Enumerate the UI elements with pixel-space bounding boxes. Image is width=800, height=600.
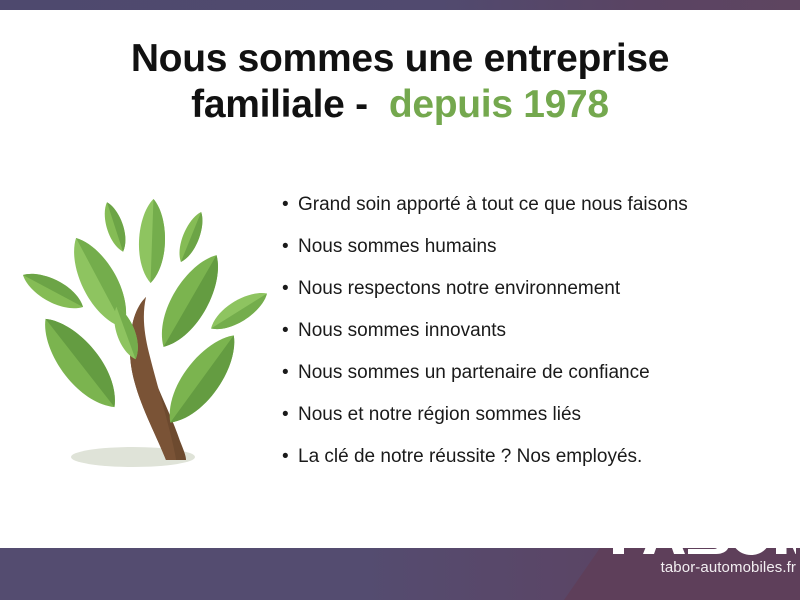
bullet-marker-icon: • (282, 360, 298, 386)
title-line-1: Nous sommes une entreprise (0, 36, 800, 82)
leaf-7 (205, 285, 272, 338)
list-item-label: Grand soin apporté à tout ce que nous fa… (298, 192, 688, 218)
list-item: • La clé de notre réussite ? Nos employé… (282, 444, 782, 486)
list-item: • Nous sommes humains (282, 234, 782, 276)
slide-canvas: Nous sommes une entreprise familiale - d… (0, 0, 800, 600)
value-bullet-list: • Grand soin apporté à tout ce que nous … (282, 192, 782, 486)
list-item-label: Nous sommes humains (298, 234, 497, 260)
list-item: • Nous et notre région sommes liés (282, 402, 782, 444)
top-accent-bar (0, 0, 800, 10)
bullet-marker-icon: • (282, 192, 298, 218)
tabor-wordmark-logo (596, 514, 796, 556)
leaf-4 (138, 199, 167, 284)
list-item-label: Nous respectons notre environnement (298, 276, 620, 302)
bullet-marker-icon: • (282, 444, 298, 470)
list-item: • Nous sommes innovants (282, 318, 782, 360)
leaf-5 (174, 209, 209, 265)
list-item: • Nous respectons notre environnement (282, 276, 782, 318)
list-item: • Nous sommes un partenaire de confiance (282, 360, 782, 402)
tree-illustration (18, 183, 280, 485)
logo-url-text: tabor-automobiles.fr (596, 559, 796, 576)
list-item-label: Nous sommes innovants (298, 318, 506, 344)
list-item-label: Nous sommes un partenaire de confiance (298, 360, 650, 386)
title-line-2-accent: depuis 1978 (389, 83, 609, 126)
list-item-label: La clé de notre réussite ? Nos employés. (298, 444, 642, 470)
list-item-label: Nous et notre région sommes liés (298, 402, 581, 428)
title-line-2: familiale - depuis 1978 (0, 82, 800, 128)
bullet-marker-icon: • (282, 234, 298, 260)
bullet-marker-icon: • (282, 276, 298, 302)
list-item: • Grand soin apporté à tout ce que nous … (282, 192, 782, 234)
bullet-marker-icon: • (282, 318, 298, 344)
title-line-2-plain: familiale - (191, 83, 368, 126)
bullet-marker-icon: • (282, 402, 298, 428)
page-title: Nous sommes une entreprise familiale - d… (0, 36, 800, 128)
leaf-3 (99, 200, 131, 254)
